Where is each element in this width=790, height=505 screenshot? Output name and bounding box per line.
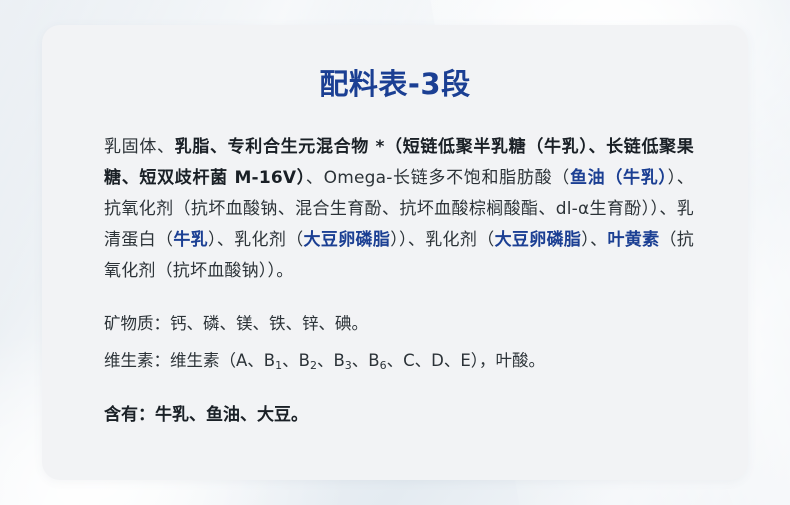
contains-label: 含有： xyxy=(104,405,155,425)
spacer-2 xyxy=(104,339,694,346)
vitamins-line: 维生素：维生素（A、B1、B2、B3、B6、C、D、E），叶酸。 xyxy=(104,346,694,378)
ingredients-seg-12-highlight: 叶黄素 xyxy=(607,230,659,250)
ingredients-seg-6-highlight: 牛乳 xyxy=(173,230,208,250)
vitamins-value-c: 、B xyxy=(317,351,345,370)
vitamin-b3-subscript: 3 xyxy=(345,359,352,372)
ingredients-seg-3: 、Omega-长链多不饱和脂肪酸（ xyxy=(306,168,570,188)
ingredients-card: 配料表-3段 乳固体、乳脂、专利合生元混合物 *（短链低聚半乳糖（牛乳）、长链低… xyxy=(42,25,748,480)
vitamins-value-e: 、C、D、E），叶酸。 xyxy=(387,351,545,370)
minerals-label: 矿物质： xyxy=(104,314,170,333)
ingredients-seg-9: ））、乳化剂（ xyxy=(390,230,494,250)
ingredients-seg-7: ）、乳化剂（ xyxy=(208,230,304,250)
card-body: 乳固体、乳脂、专利合生元混合物 *（短链低聚半乳糖（牛乳）、长链低聚果糖、短双歧… xyxy=(104,132,694,430)
contains-line: 含有：牛乳、鱼油、大豆。 xyxy=(104,400,694,430)
contains-value: 牛乳、鱼油、大豆。 xyxy=(155,405,308,425)
vitamin-b1-subscript: 1 xyxy=(275,359,282,372)
ingredients-seg-10-highlight: 大豆卵磷脂 xyxy=(495,230,582,250)
ingredients-seg-8-highlight: 大豆卵磷脂 xyxy=(304,230,391,250)
ingredients-seg-4-highlight: 鱼油（牛乳） xyxy=(570,168,668,188)
page-title: 配料表-3段 xyxy=(42,25,748,103)
spacer-3 xyxy=(104,378,694,400)
page-background: 配料表-3段 乳固体、乳脂、专利合生元混合物 *（短链低聚半乳糖（牛乳）、长链低… xyxy=(0,0,790,505)
ingredients-seg-11: ）、 xyxy=(581,230,607,250)
vitamin-b6-subscript: 6 xyxy=(380,359,387,372)
vitamins-value-d: 、B xyxy=(352,351,380,370)
minerals-value: 钙、磷、镁、铁、锌、碘。 xyxy=(170,314,368,333)
spacer-1 xyxy=(104,287,694,309)
vitamin-b2-subscript: 2 xyxy=(310,359,317,372)
vitamins-label: 维生素： xyxy=(104,351,170,370)
vitamins-value-a: 维生素（A、B xyxy=(170,351,275,370)
vitamins-value-b: 、B xyxy=(282,351,310,370)
ingredients-seg-1: 乳固体、 xyxy=(104,137,175,157)
ingredients-paragraph: 乳固体、乳脂、专利合生元混合物 *（短链低聚半乳糖（牛乳）、长链低聚果糖、短双歧… xyxy=(104,132,694,287)
minerals-line: 矿物质：钙、磷、镁、铁、锌、碘。 xyxy=(104,309,694,339)
